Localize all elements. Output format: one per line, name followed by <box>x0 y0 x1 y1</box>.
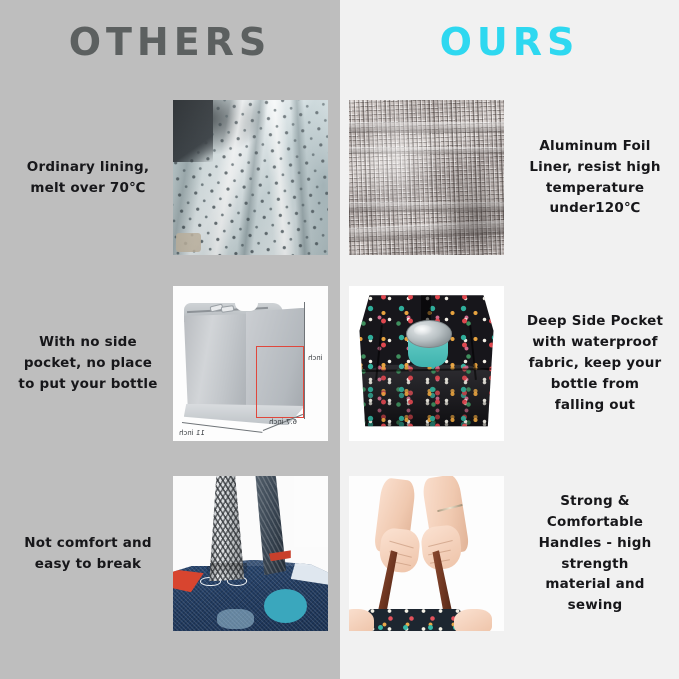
aluminum-foil-liner-photo <box>349 100 504 255</box>
others-caption-2: With no side pocket, no place to put you… <box>6 286 170 441</box>
hands-holding-handles-photo <box>349 476 504 631</box>
floral-bag-bottom <box>368 609 461 631</box>
woven-strap-handle-photo <box>173 476 328 631</box>
comparison-row-3: Not comfort and easy to break <box>0 476 679 631</box>
others-heading: OTHERS <box>0 16 340 68</box>
left-fist <box>378 527 421 574</box>
comparison-infographic: OTHERS OURS Ordinary lining, melt over 7… <box>0 0 679 679</box>
comparison-row-1: Ordinary lining, melt over 70℃ <box>0 100 679 255</box>
ours-caption-2: Deep Side Pocket with waterproof fabric,… <box>515 286 675 441</box>
others-caption-1: Ordinary lining, melt over 70℃ <box>6 100 170 255</box>
comparison-row-2: With no side pocket, no place to put you… <box>0 286 679 441</box>
dimension-label-depth: 6.7 inch <box>269 418 297 426</box>
ours-caption-1: Aluminum Foil Liner, resist high tempera… <box>515 100 675 255</box>
ours-heading: OURS <box>340 16 679 68</box>
ordinary-lining-photo <box>173 100 328 255</box>
side-pocket-callout-box <box>256 346 305 418</box>
dimension-label-height: inch <box>308 354 323 362</box>
dimension-label-width: 11 inch <box>179 429 205 437</box>
others-caption-3: Not comfort and easy to break <box>6 476 170 631</box>
ours-caption-3: Strong & Comfortable Handles - high stre… <box>515 476 675 631</box>
gray-bag-dimensions-photo: inch 11 inch 6.7 inch <box>173 286 328 441</box>
floral-bag-side-pocket-photo <box>349 286 504 441</box>
